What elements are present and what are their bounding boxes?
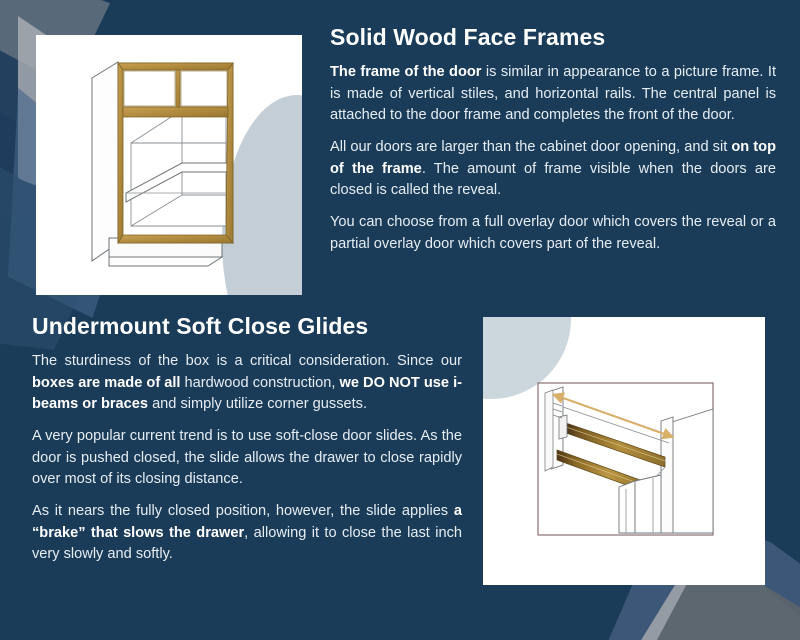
slide-canvas: Solid Wood Face Frames The frame of the … (0, 0, 800, 640)
cabinet-face-frame-illustration (36, 35, 302, 295)
drawer-glide-line-drawing (483, 317, 765, 585)
undermount-soft-close-glides-text-block: Undermount Soft Close Glides The sturdin… (32, 313, 462, 565)
paragraph-frames-1: The frame of the door is similar in appe… (330, 62, 776, 126)
undermount-drawer-glide-illustration (483, 317, 765, 585)
paragraph-frames-2: All our doors are larger than the cabine… (330, 137, 776, 201)
page-title-solid-wood-face-frames: Solid Wood Face Frames (330, 24, 776, 50)
paragraph-frames-3: You can choose from a full overlay door … (330, 212, 776, 255)
paragraph-glides-1: The sturdiness of the box is a critical … (32, 351, 462, 415)
paragraph-glides-3: As it nears the fully closed position, h… (32, 501, 462, 565)
cabinet-line-drawing (36, 35, 302, 295)
paragraph-glides-2: A very popular current trend is to use s… (32, 426, 462, 490)
page-title-undermount-soft-close-glides: Undermount Soft Close Glides (32, 313, 462, 339)
solid-wood-face-frames-text-block: Solid Wood Face Frames The frame of the … (330, 24, 776, 255)
